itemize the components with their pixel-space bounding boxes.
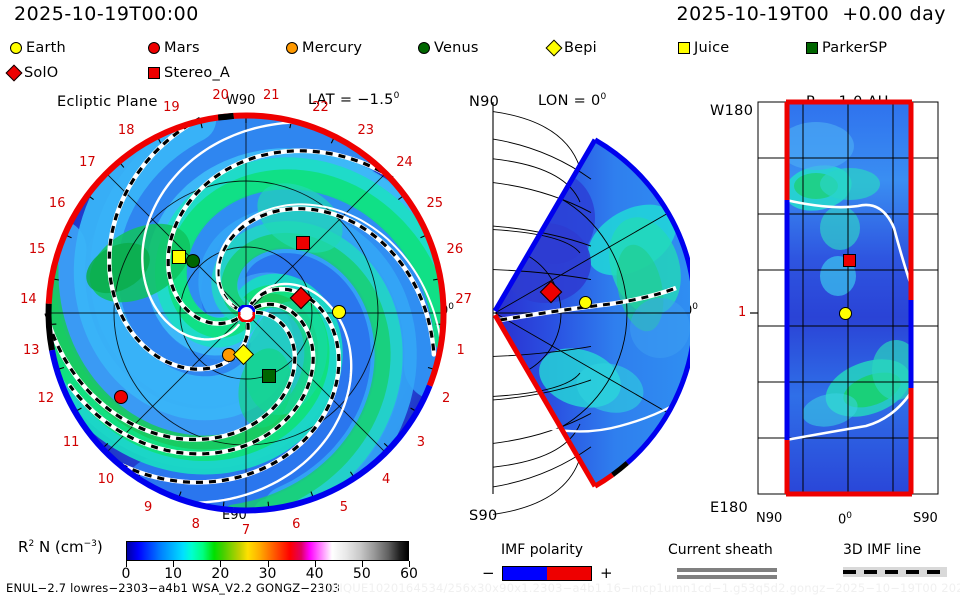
ecliptic-hour-label-23: 23 (357, 123, 375, 138)
legend-label: SolO (24, 65, 58, 81)
body-marker-venus (186, 254, 200, 268)
sun-icon (238, 305, 255, 322)
legend-label: Stereo_A (164, 65, 230, 81)
ecliptic-hour-label-17: 17 (78, 155, 96, 170)
ecliptic-hour-label-10: 10 (97, 472, 115, 487)
legend-label: Venus (434, 40, 479, 56)
ecliptic-hour-label-11: 11 (62, 435, 80, 450)
marker-circle (332, 305, 346, 319)
ecliptic-hour-label-16: 16 (48, 196, 66, 211)
ecliptic-hour-label-13: 13 (22, 343, 40, 358)
ecliptic-hour-label-18: 18 (117, 123, 135, 138)
ecliptic-hour-label-14: 14 (19, 292, 37, 307)
legend-item-stereo_a[interactable]: Stereo_A (148, 63, 230, 83)
marker-diamond (290, 287, 313, 310)
colorbar-tick-label: 10 (157, 566, 189, 582)
ecliptic-hour-label-21: 21 (262, 88, 280, 103)
marker-square (678, 42, 690, 54)
radial-shell-plot[interactable] (690, 88, 960, 528)
ecliptic-hour-label-6: 6 (287, 517, 305, 532)
body-marker-stereo_a (296, 236, 310, 250)
legend-label: Mercury (302, 40, 362, 56)
ecliptic-hour-label-20: 20 (212, 88, 230, 103)
legend-item-earth[interactable]: Earth (10, 38, 66, 58)
marker-diamond (6, 65, 23, 82)
body-marker-parkersp (262, 369, 276, 383)
legend-item-mars[interactable]: Mars (148, 38, 200, 58)
legend-label: Bepi (564, 40, 597, 56)
ecliptic-plane-plot[interactable] (0, 88, 460, 528)
legend-label: Earth (26, 40, 66, 56)
ecliptic-hour-label-15: 15 (28, 242, 46, 257)
meridional-slice-plot[interactable] (460, 88, 690, 528)
body-marker-earth (332, 305, 346, 319)
imf-positive-sign: + (600, 566, 613, 581)
marker-square (806, 42, 818, 54)
run-id-watermark: UNIQUE1020164534/256x30x90x1.2303−a4b1.1… (322, 583, 960, 595)
body-marker-bepi (236, 347, 251, 362)
ecliptic-hour-label-5: 5 (335, 500, 353, 515)
body-marker-mars (114, 390, 128, 404)
imf-line-sample (843, 567, 947, 577)
body-marker-sun (238, 305, 255, 322)
legend-label: Mars (164, 40, 200, 56)
colorbar-caption: R2 N (cm−3) (18, 540, 103, 555)
timestamp-left: 2025-10-19T00:00 (14, 5, 199, 24)
body-marker-solo (543, 284, 559, 300)
ecliptic-hour-label-19: 19 (162, 100, 180, 115)
current-sheath-title: Current sheath (668, 543, 773, 557)
colorbar-tick-label: 50 (346, 566, 378, 582)
legend-label: ParkerSP (822, 40, 887, 56)
colorbar-tick-label: 0 (110, 566, 142, 582)
marker-square (843, 254, 856, 267)
ecliptic-hour-label-24: 24 (396, 155, 414, 170)
density-colorbar[interactable] (126, 541, 409, 561)
marker-circle (10, 42, 22, 54)
marker-circle (839, 307, 852, 320)
imf-polarity-title: IMF polarity (501, 543, 583, 557)
body-marker-stereo_a (843, 254, 856, 267)
marker-circle (148, 42, 160, 54)
marker-diamond (540, 281, 563, 304)
ecliptic-hour-label-8: 8 (187, 517, 205, 532)
ecliptic-hour-label-7: 7 (237, 523, 255, 538)
legend-item-venus[interactable]: Venus (418, 38, 479, 58)
legend-item-mercury[interactable]: Mercury (286, 38, 362, 58)
marker-circle (114, 390, 128, 404)
imf-polarity-bar (502, 566, 592, 581)
imf-line-dashes (843, 570, 947, 574)
ecliptic-hour-label-22: 22 (312, 100, 330, 115)
body-marker-earth (579, 296, 592, 309)
current-sheath-line-top (677, 568, 777, 572)
body-marker-earth (839, 307, 852, 320)
marker-square (262, 369, 276, 383)
timestamp-right: 2025-10-19T00 +0.00 day (677, 5, 947, 24)
ecliptic-hour-label-2: 2 (437, 391, 455, 406)
marker-circle (286, 42, 298, 54)
marker-diamond (546, 40, 563, 57)
imf-negative-swatch (503, 567, 547, 580)
marker-square (172, 250, 186, 264)
marker-circle (418, 42, 430, 54)
colorbar-tick-label: 60 (393, 566, 425, 582)
marker-square (148, 67, 160, 79)
current-sheath-line-bottom (677, 575, 777, 579)
ecliptic-hour-label-12: 12 (37, 391, 55, 406)
legend-item-juice[interactable]: Juice (678, 38, 729, 58)
ecliptic-hour-label-3: 3 (412, 435, 430, 450)
marker-diamond (232, 343, 253, 364)
colorbar-tick-label: 40 (299, 566, 331, 582)
legend-label: Juice (694, 40, 729, 56)
ecliptic-hour-label-25: 25 (426, 196, 444, 211)
colorbar-tick-label: 20 (204, 566, 236, 582)
legend-item-parkersp[interactable]: ParkerSP (806, 38, 887, 58)
body-marker-juice (172, 250, 186, 264)
ecliptic-hour-label-9: 9 (139, 500, 157, 515)
legend-item-bepi[interactable]: Bepi (548, 38, 597, 58)
imf-line-title: 3D IMF line (843, 543, 921, 557)
legend-item-solo[interactable]: SolO (8, 63, 58, 83)
imf-positive-swatch (547, 567, 591, 580)
colorbar-tick-label: 30 (252, 566, 284, 582)
marker-circle (186, 254, 200, 268)
marker-square (296, 236, 310, 250)
imf-negative-sign: − (482, 566, 495, 581)
ecliptic-hour-label-4: 4 (377, 472, 395, 487)
marker-circle (579, 296, 592, 309)
model-footer: ENUL−2.7 lowres−2303−a4b1 WSA_V2.2 GONGZ… (6, 583, 340, 595)
body-marker-solo (293, 290, 309, 306)
